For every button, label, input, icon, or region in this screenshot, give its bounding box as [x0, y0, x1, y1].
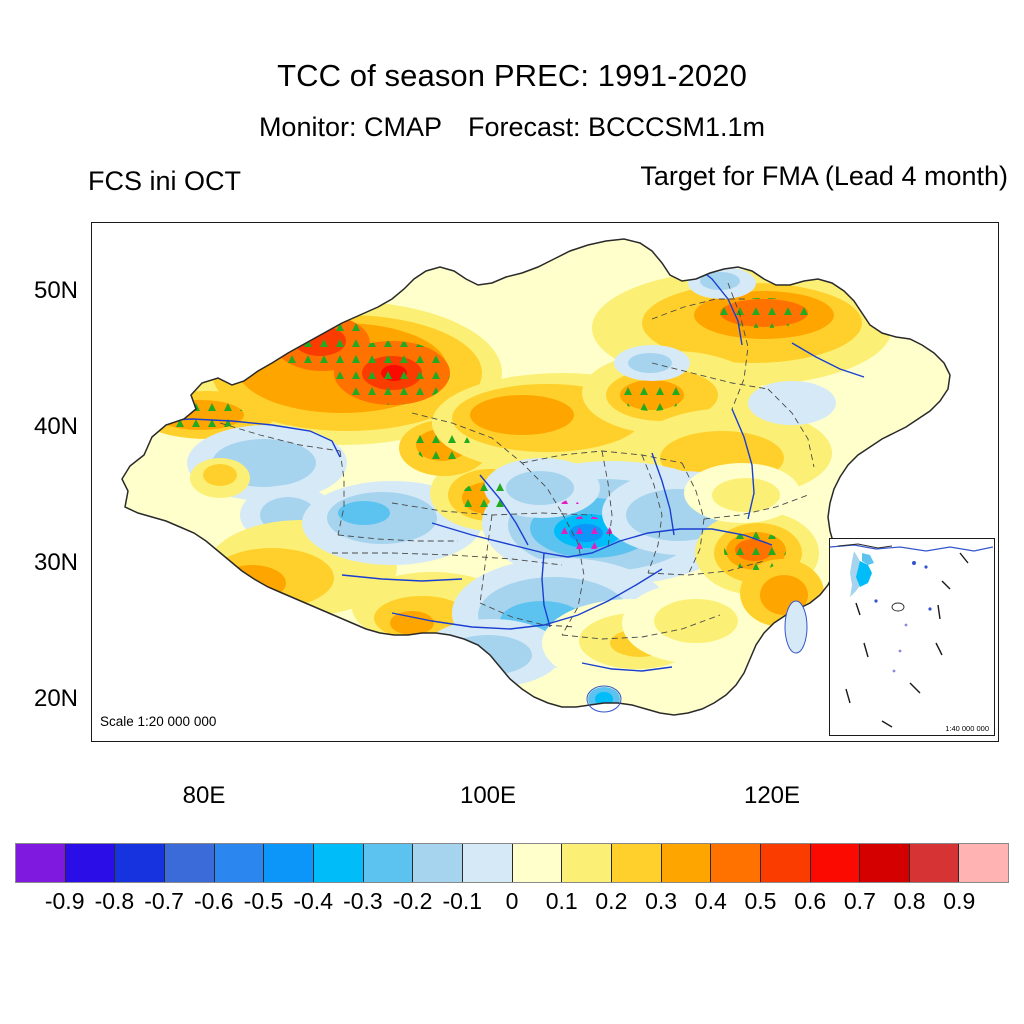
ylabel-40n: 40N [8, 413, 78, 441]
inset-dot-4 [928, 607, 931, 610]
inset-coastline [830, 545, 993, 551]
colorbar-band-8 [413, 844, 463, 882]
xtick-minor-125e [844, 741, 845, 742]
taiwan-island [785, 601, 807, 653]
xtick-minor-95e [418, 741, 419, 742]
xtick-120e [773, 741, 775, 742]
target-label: Target for FMA (Lead 4 month) [640, 161, 1008, 192]
page-title: TCC of season PREC: 1991-2020 [0, 58, 1024, 94]
xtick-80e [205, 741, 207, 742]
colorbar-label-18: 0.9 [924, 888, 994, 915]
colorbar-band-16 [811, 844, 861, 882]
xtick-minor-115e [702, 741, 703, 742]
monitor-label: Monitor: CMAP [259, 112, 442, 142]
inset-svg [830, 539, 993, 734]
colorbar-band-7 [364, 844, 414, 882]
ylabel-20n: 20N [8, 685, 78, 713]
ytick-minor-24n [91, 645, 92, 646]
ytick-minor-26n [91, 618, 92, 619]
inset-dot-5 [905, 624, 908, 627]
colorbar-band-13 [662, 844, 712, 882]
ytick-minor-48n [91, 319, 92, 320]
ytick-minor-36n [91, 482, 92, 483]
inset-dash-3 [856, 603, 860, 615]
map-scale-text: Scale 1:20 000 000 [100, 714, 216, 729]
xlabel-100e: 100E [428, 782, 548, 810]
ylabel-30n: 30N [8, 549, 78, 577]
south-china-sea-inset-map: 1:40 000 000 [829, 538, 995, 736]
colorbar-band-19 [959, 844, 1008, 882]
xtick-minor-130e [915, 741, 916, 742]
forecast-label: Forecast: BCCCSM1.1m [468, 112, 765, 142]
colorbar-band-4 [215, 844, 265, 882]
subtitle-row: Monitor: CMAPForecast: BCCCSM1.1m [0, 112, 1024, 143]
colorbar-band-0 [16, 844, 66, 882]
inset-dash-4 [938, 605, 940, 619]
inset-scale-text: 1:40 000 000 [945, 724, 989, 733]
inset-dash-8 [910, 683, 920, 693]
inset-dash-6 [936, 643, 942, 655]
colorbar-band-12 [612, 844, 662, 882]
xtick-minor-105e [560, 741, 561, 742]
ytick-minor-18n [91, 728, 92, 729]
ytick-20n [91, 700, 92, 702]
colorbar-band-17 [860, 844, 910, 882]
ytick-minor-52n [91, 264, 92, 265]
xlabel-120e: 120E [712, 782, 832, 810]
inset-dash-5 [864, 643, 868, 657]
ytick-30n [91, 564, 92, 566]
colorbar-strip [15, 843, 1009, 883]
inset-dash-1 [960, 553, 968, 563]
ytick-minor-54n [91, 237, 92, 238]
colorbar-band-10 [513, 844, 563, 882]
inset-dot-2 [924, 565, 927, 568]
ytick-minor-42n [91, 401, 92, 402]
xtick-minor-110e [631, 741, 632, 742]
xtick-minor-135e [986, 741, 987, 742]
ytick-minor-44n [91, 373, 92, 374]
ytick-50n [91, 292, 92, 294]
xtick-minor-90e [347, 741, 348, 742]
xtick-100e [489, 741, 491, 742]
colorbar-band-6 [314, 844, 364, 882]
colorbar-band-15 [761, 844, 811, 882]
inset-dot-1 [912, 561, 916, 565]
colorbar-band-18 [910, 844, 960, 882]
xtick-minor-85e [276, 741, 277, 742]
xtick-minor-75e [134, 741, 135, 742]
ytick-minor-46n [91, 346, 92, 347]
ytick-minor-32n [91, 537, 92, 538]
colorbar-band-14 [711, 844, 761, 882]
inset-dash-9 [882, 721, 892, 727]
inset-dot-6 [899, 650, 902, 653]
colorbar-band-9 [463, 844, 513, 882]
colorbar-band-5 [264, 844, 314, 882]
map-plot-frame: Scale 1:20 000 000 1:40 0 [91, 222, 999, 742]
inset-dash-7 [846, 689, 850, 703]
colorbar-band-1 [66, 844, 116, 882]
inset-dot-7 [893, 670, 896, 673]
ytick-minor-28n [91, 591, 92, 592]
ytick-minor-34n [91, 509, 92, 510]
ytick-minor-22n [91, 673, 92, 674]
colorbar-band-11 [562, 844, 612, 882]
inset-small-island [892, 603, 904, 611]
ylabel-50n: 50N [8, 277, 78, 305]
colorbar-tick-labels: -0.9-0.8-0.7-0.6-0.5-0.4-0.3-0.2-0.100.1… [15, 888, 1009, 922]
colorbar-legend: -0.9-0.8-0.7-0.6-0.5-0.4-0.3-0.2-0.100.1… [15, 843, 1009, 922]
colorbar-band-2 [115, 844, 165, 882]
ytick-minor-38n [91, 455, 92, 456]
colorbar-band-3 [165, 844, 215, 882]
ytick-40n [91, 428, 92, 430]
inset-dot-3 [874, 599, 877, 602]
fcs-ini-label: FCS ini OCT [88, 166, 241, 197]
xlabel-80e: 80E [144, 782, 264, 810]
inset-dash-2 [942, 581, 950, 589]
